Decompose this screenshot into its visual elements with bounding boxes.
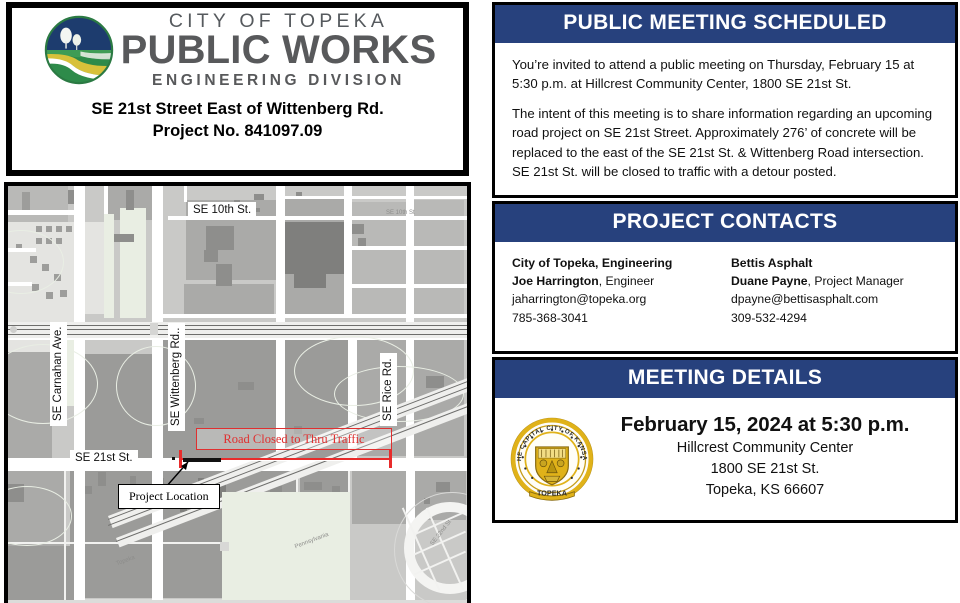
contact-person-city: Joe Harrington bbox=[512, 274, 599, 288]
project-title-line2: Project No. 841097.09 bbox=[91, 120, 383, 142]
project-location-map[interactable]: Topeka Pennsylvania SE 22nd St SE 10th S… bbox=[4, 182, 471, 603]
map-label-se-21st-st: SE 21st St. bbox=[70, 450, 138, 467]
meeting-date-time: February 15, 2024 at 5:30 p.m. bbox=[595, 412, 935, 438]
contact-name-city: Joe Harrington, Engineer bbox=[512, 272, 725, 290]
contact-card-contractor: Bettis Asphalt Duane Payne, Project Mana… bbox=[725, 254, 938, 327]
map-label-se-carnahan-ave: SE Carnahan Ave. bbox=[50, 322, 67, 426]
closure-extent-tick-east bbox=[389, 450, 392, 468]
brand-division-line: ENGINEERING DIVISION bbox=[152, 72, 405, 89]
panel-meeting-details: MEETING DETAILS bbox=[492, 357, 958, 523]
panel-project-contacts: PROJECT CONTACTS City of Topeka, Enginee… bbox=[492, 201, 958, 354]
brand-row: CITY OF TOPEKA PUBLIC WORKS ENGINEERING … bbox=[12, 11, 463, 89]
project-location-callout: Project Location bbox=[118, 484, 220, 509]
left-column: CITY OF TOPEKA PUBLIC WORKS ENGINEERING … bbox=[0, 0, 477, 603]
header-logo-card: CITY OF TOPEKA PUBLIC WORKS ENGINEERING … bbox=[6, 2, 469, 176]
contact-role-city: , Engineer bbox=[599, 274, 655, 288]
contact-org-city: City of Topeka, Engineering bbox=[512, 254, 725, 272]
contact-phone-contractor[interactable]: 309-532-4294 bbox=[731, 309, 938, 327]
road-closed-annotation: Road Closed to Thru Traffic bbox=[196, 428, 392, 450]
meeting-details-text: February 15, 2024 at 5:30 p.m. Hillcrest… bbox=[595, 412, 941, 501]
public-meeting-notice-flyer: CITY OF TOPEKA PUBLIC WORKS ENGINEERING … bbox=[0, 0, 960, 603]
road-closed-label: Road Closed to Thru Traffic bbox=[223, 432, 364, 447]
contact-phone-city[interactable]: 785-368-3041 bbox=[512, 309, 725, 327]
map-tiny-label-se-10th-far: SE 10th St bbox=[386, 210, 415, 216]
project-location-label: Project Location bbox=[129, 489, 209, 503]
map-label-se-rice-rd: SE Rice Rd. bbox=[380, 353, 397, 426]
map-canvas: Topeka Pennsylvania SE 22nd St SE 10th S… bbox=[8, 186, 467, 603]
panel-title-project-contacts: PROJECT CONTACTS bbox=[495, 204, 955, 242]
project-title-line1: SE 21st Street East of Wittenberg Rd. bbox=[91, 98, 383, 120]
topeka-public-works-logo-icon bbox=[43, 14, 115, 86]
right-column: PUBLIC MEETING SCHEDULED You’re invited … bbox=[492, 2, 958, 602]
svg-text:TOPEKA: TOPEKA bbox=[537, 489, 568, 498]
meeting-details-body: TOPEKA THE CAPITAL CITY OF KANSAS Februa… bbox=[495, 398, 955, 520]
contact-email-contractor[interactable]: dpayne@bettisasphalt.com bbox=[731, 290, 938, 308]
contact-card-city: City of Topeka, Engineering Joe Harringt… bbox=[512, 254, 725, 327]
contact-org-contractor: Bettis Asphalt bbox=[731, 254, 938, 272]
meeting-address: 1800 SE 21st St. bbox=[595, 459, 935, 480]
public-meeting-body: You’re invited to attend a public meetin… bbox=[495, 43, 955, 195]
map-label-se-10th-st: SE 10th St. bbox=[188, 202, 256, 219]
contact-name-contractor: Duane Payne, Project Manager bbox=[731, 272, 938, 290]
map-label-se-wittenberg-rd: SE Wittenberg Rd.. bbox=[168, 323, 185, 431]
meeting-paragraph-2: The intent of this meeting is to share i… bbox=[512, 104, 938, 181]
panel-title-public-meeting-scheduled: PUBLIC MEETING SCHEDULED bbox=[495, 5, 955, 43]
panel-public-meeting-scheduled: PUBLIC MEETING SCHEDULED You’re invited … bbox=[492, 2, 958, 198]
contacts-grid: City of Topeka, Engineering Joe Harringt… bbox=[495, 242, 955, 351]
brand-public-works-line: PUBLIC WORKS bbox=[121, 31, 437, 70]
panel-title-meeting-details: MEETING DETAILS bbox=[495, 360, 955, 398]
contact-email-city[interactable]: jaharrington@topeka.org bbox=[512, 290, 725, 308]
project-title: SE 21st Street East of Wittenberg Rd. Pr… bbox=[91, 98, 383, 143]
contact-role-contractor: , Project Manager bbox=[808, 274, 904, 288]
meeting-paragraph-1: You’re invited to attend a public meetin… bbox=[512, 55, 938, 93]
city-of-topeka-seal-icon: TOPEKA THE CAPITAL CITY OF KANSAS bbox=[509, 416, 595, 502]
contact-person-contractor: Duane Payne bbox=[731, 274, 808, 288]
meeting-venue: Hillcrest Community Center bbox=[595, 438, 935, 459]
meeting-city-state-zip: Topeka, KS 66607 bbox=[595, 480, 935, 501]
